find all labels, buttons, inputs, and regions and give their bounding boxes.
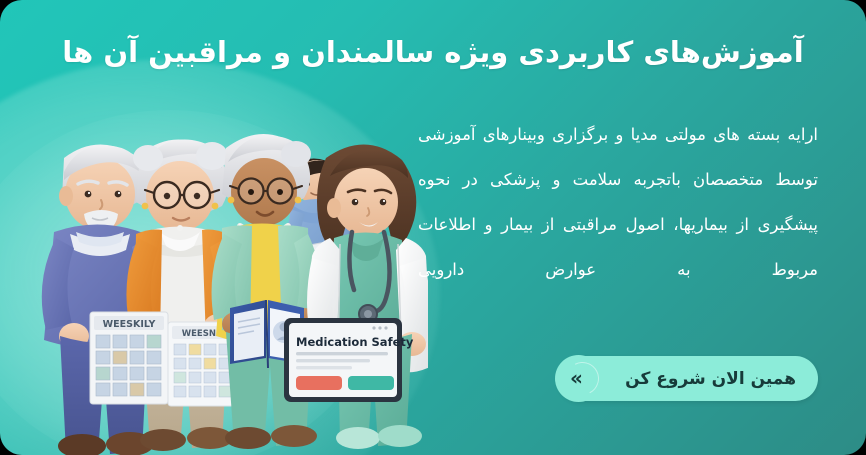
chart-label-left: WEESKILY bbox=[103, 319, 156, 330]
tablet-title: Medication Safety bbox=[296, 335, 414, 349]
start-now-button[interactable]: همین الان شروع کن « bbox=[558, 356, 818, 401]
promo-banner: WEESKILY WEESNLY bbox=[0, 0, 866, 455]
tablet-device: Medication Safety bbox=[284, 318, 414, 402]
double-chevron-left-icon[interactable]: « bbox=[555, 355, 602, 402]
tablet-button-secondary bbox=[348, 376, 394, 390]
chevron-glyph: « bbox=[570, 368, 583, 388]
start-now-button-label: همین الان شروع کن bbox=[625, 369, 796, 389]
hero-illustration: WEESKILY WEESNLY bbox=[8, 96, 428, 455]
figure-female-doctor bbox=[306, 144, 428, 449]
page-title: آموزش‌های کاربردی ویژه سالمندان و مراقبی… bbox=[0, 31, 866, 75]
pill-organizer-left: WEESKILY bbox=[90, 312, 168, 404]
body-paragraph: ارایه بسته های مولتی مدیا و برگزاری وبین… bbox=[418, 112, 818, 292]
tablet-button-primary bbox=[296, 376, 342, 390]
